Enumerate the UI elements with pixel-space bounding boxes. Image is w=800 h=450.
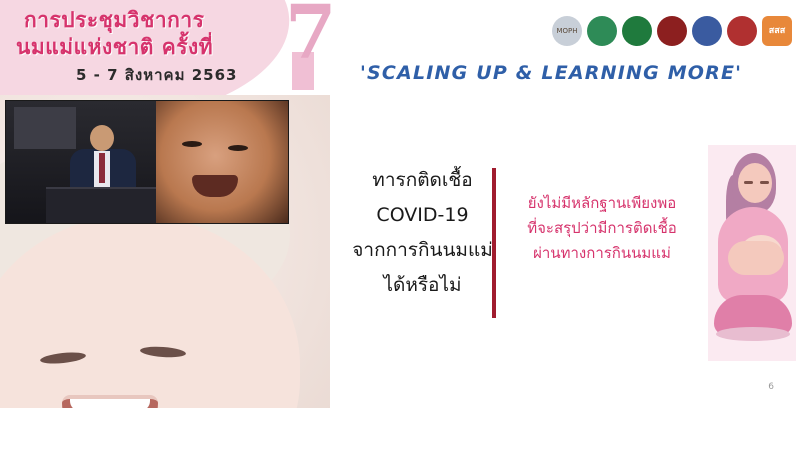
page-number: 6 [768,382,774,392]
bottom-bar [0,408,800,450]
slide-header: 7 การประชุมวิชาการ นมแม่แห่งชาติ ครั้งที… [0,0,800,95]
mother-eye-right [760,181,769,184]
photo-baby-eye-left [182,141,202,147]
photo-baby-eye-right [228,145,248,151]
logo-ministry-icon: MOPH [552,16,582,46]
mother-arm [728,241,784,275]
logo-green-1-icon [587,16,617,46]
photo-baby-face [156,101,288,223]
conference-dates: 5 - 7 สิงหาคม 2563 [76,63,237,87]
edition-number: 7 [285,0,337,70]
answer-text: ยังไม่มีหลักฐานเพียงพอ ที่จะสรุปว่ามีการ… [502,191,702,266]
speaker-podium [46,187,158,224]
logo-red-icon [727,16,757,46]
logo-sss-icon: สสส [762,16,792,46]
speaker-head [90,125,114,151]
conference-title-line2: นมแม่แห่งชาติ ครั้งที่ [16,31,213,64]
question-line-2: COVID-19 [340,198,505,233]
mother-eye-left [744,181,753,184]
slide-canvas: 7 การประชุมวิชาการ นมแม่แห่งชาติ ครั้งที… [0,0,800,450]
question-line-4: ได้หรือไม่ [340,268,505,303]
speaker-photo-screen [14,107,76,149]
conference-tagline: 'SCALING UP & LEARNING MORE' [360,62,742,84]
question-line-1: ทารกติดเชื้อ [340,163,505,198]
breastfeeding-illustration [708,145,796,361]
answer-line-3: ผ่านทางการกินนมแม่ [502,241,702,266]
question-line-3: จากการกินนมแม่ [340,233,505,268]
logo-maroon-icon [657,16,687,46]
sponsor-logos: MOPH สสส [552,16,792,46]
logo-blue-icon [692,16,722,46]
speaker-tie [99,153,105,183]
question-text: ทารกติดเชื้อ COVID-19 จากการกินนมแม่ ได้… [340,163,505,303]
vertical-divider [492,168,496,318]
answer-line-2: ที่จะสรุปว่ามีการติดเชื้อ [502,216,702,241]
logo-green-2-icon [622,16,652,46]
speaker-photo [5,100,289,224]
answer-line-1: ยังไม่มีหลักฐานเพียงพอ [502,191,702,216]
slide-content: ทารกติดเชื้อ COVID-19 จากการกินนมแม่ ได้… [330,95,800,450]
illustration-shadow [716,327,790,341]
